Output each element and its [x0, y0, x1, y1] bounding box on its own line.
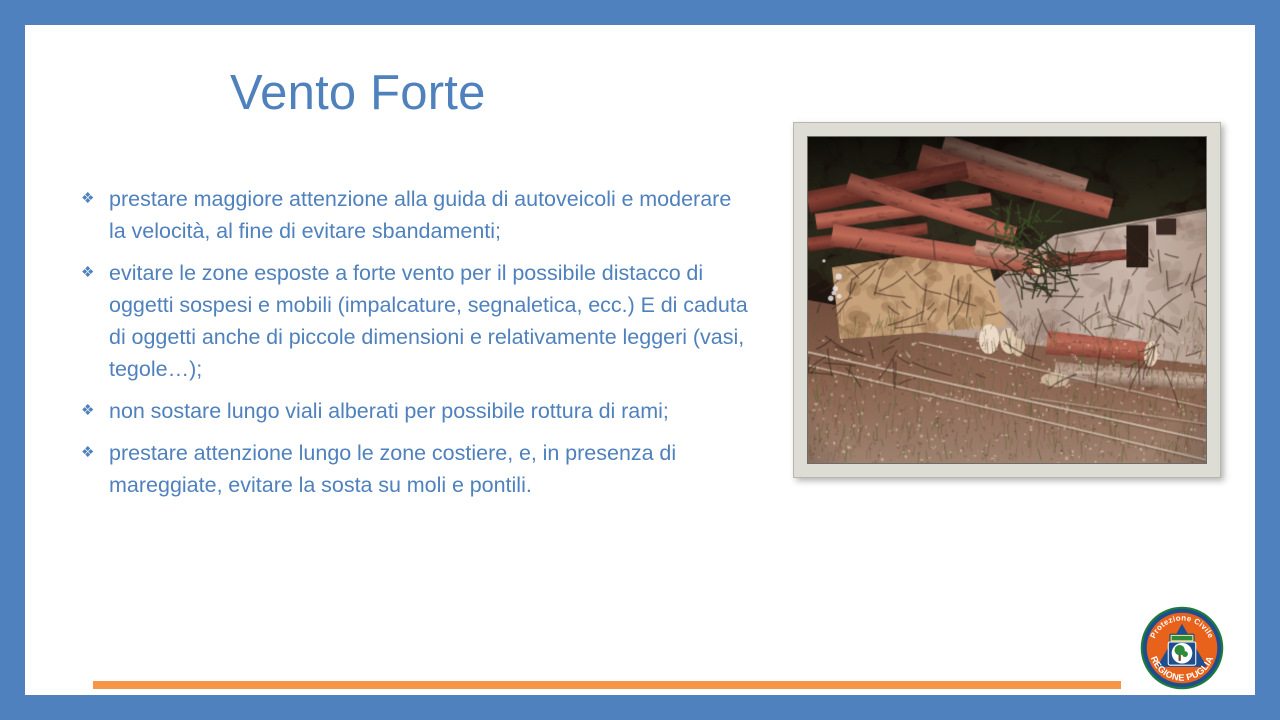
list-item: ❖ prestare attenzione lungo le zone cost…	[78, 437, 750, 501]
bullet-diamond-icon: ❖	[78, 395, 109, 427]
accent-divider	[93, 681, 1121, 689]
photo-image	[807, 136, 1207, 464]
protezione-civile-logo-icon: Protezione Civile REGIONE PUGLIA	[1139, 605, 1225, 691]
page-title: Vento Forte	[230, 63, 790, 123]
list-item: ❖ prestare maggiore attenzione alla guid…	[78, 183, 750, 247]
list-item: ❖ evitare le zone esposte a forte vento …	[78, 257, 750, 385]
list-item-text: prestare maggiore attenzione alla guida …	[109, 183, 750, 247]
bullet-list: ❖ prestare maggiore attenzione alla guid…	[78, 183, 750, 511]
list-item: ❖ non sostare lungo viali alberati per p…	[78, 395, 750, 427]
slide-root: Vento Forte ❖ prestare maggiore attenzio…	[0, 0, 1280, 720]
list-item-text: prestare attenzione lungo le zone costie…	[109, 437, 750, 501]
list-item-text: non sostare lungo viali alberati per pos…	[109, 395, 750, 427]
bullet-diamond-icon: ❖	[78, 183, 109, 215]
photo-canvas	[808, 137, 1206, 463]
bullet-diamond-icon: ❖	[78, 257, 109, 289]
slide-content-area: Vento Forte ❖ prestare maggiore attenzio…	[25, 25, 1255, 695]
list-item-text: evitare le zone esposte a forte vento pe…	[109, 257, 750, 385]
photo-frame	[793, 122, 1221, 478]
bullet-diamond-icon: ❖	[78, 437, 109, 469]
